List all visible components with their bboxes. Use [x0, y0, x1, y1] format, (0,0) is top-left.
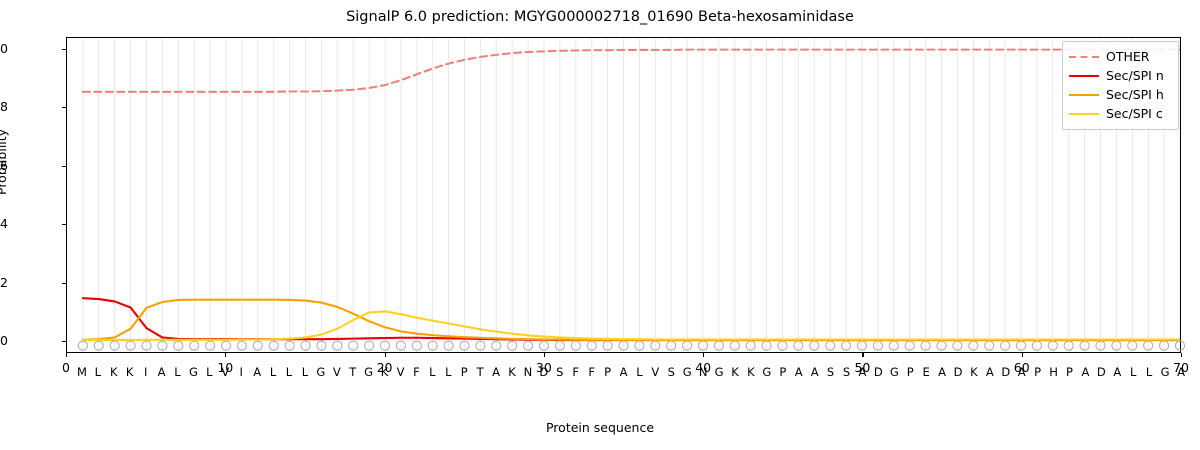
residue-marker — [1064, 341, 1073, 350]
residue-marker — [285, 341, 294, 350]
residue-letter: N — [524, 365, 533, 379]
residue-marker — [317, 341, 326, 350]
residue-letter: K — [970, 365, 978, 379]
residue-marker — [349, 341, 358, 350]
residue-marker — [1160, 341, 1169, 350]
residue-letter: D — [1097, 365, 1106, 379]
residue-letter: K — [381, 365, 389, 379]
residue-marker — [1096, 341, 1105, 350]
x-axis-label: Protein sequence — [0, 420, 1200, 435]
residue-marker — [667, 341, 676, 350]
residue-marker — [174, 341, 183, 350]
residue-marker — [953, 341, 962, 350]
legend-item[interactable]: Sec/SPI h — [1069, 85, 1172, 104]
residue-letter: S — [556, 365, 563, 379]
residue-letter: K — [126, 365, 134, 379]
residue-letter: D — [1001, 365, 1010, 379]
residue-letter: K — [508, 365, 516, 379]
legend-item-label: Sec/SPI h — [1106, 87, 1164, 102]
residue-marker — [1144, 341, 1153, 350]
residue-letter: P — [779, 365, 786, 379]
residue-letter: S — [827, 365, 834, 379]
x-tick-label: 0 — [62, 360, 70, 375]
residue-letter: G — [683, 365, 692, 379]
residue-marker — [396, 341, 405, 350]
residue-marker — [1175, 341, 1184, 350]
residue-marker — [78, 341, 87, 350]
residue-marker — [603, 341, 612, 350]
residue-marker — [142, 341, 151, 350]
residue-letter: L — [270, 365, 276, 379]
residue-letter: L — [174, 365, 180, 379]
residue-letter: E — [923, 365, 930, 379]
residue-letter: A — [811, 365, 819, 379]
residue-marker — [555, 341, 564, 350]
residue-letter: A — [1081, 365, 1089, 379]
y-tick-label: 0.4 — [0, 216, 8, 231]
residue-letter: H — [1049, 365, 1058, 379]
y-tick-label: 1.0 — [0, 41, 8, 56]
residue-letter: G — [1161, 365, 1170, 379]
residue-marker — [778, 341, 787, 350]
residue-marker — [810, 341, 819, 350]
residue-marker — [476, 341, 485, 350]
y-tick-label: 0.0 — [0, 333, 8, 348]
y-tick-label: 0.8 — [0, 99, 8, 114]
residue-letter: M — [77, 365, 87, 379]
residue-letter: F — [413, 365, 420, 379]
residue-marker — [524, 341, 533, 350]
residue-marker — [158, 341, 167, 350]
legend-item-label: OTHER — [1106, 49, 1149, 64]
residue-marker — [539, 341, 548, 350]
residue-marker — [889, 341, 898, 350]
residue-marker — [460, 341, 469, 350]
residue-marker — [1001, 341, 1010, 350]
residue-marker — [842, 341, 851, 350]
legend-color-swatch — [1069, 70, 1099, 82]
residue-letter: A — [492, 365, 500, 379]
residue-letter: V — [333, 365, 341, 379]
residue-marker — [94, 341, 103, 350]
residue-letter: G — [189, 365, 198, 379]
residue-marker — [698, 341, 707, 350]
residue-letter: L — [1146, 365, 1152, 379]
residue-marker — [587, 341, 596, 350]
residue-letter: G — [364, 365, 373, 379]
legend-item[interactable]: Sec/SPI c — [1069, 104, 1172, 123]
residue-marker — [985, 341, 994, 350]
residue-marker — [412, 341, 421, 350]
x-tick-mark — [703, 353, 704, 357]
residue-letter: A — [858, 365, 866, 379]
residue-marker — [794, 341, 803, 350]
x-tick-mark — [1022, 353, 1023, 357]
residue-marker — [571, 341, 580, 350]
residue-letter: P — [1034, 365, 1041, 379]
legend-item[interactable]: Sec/SPI n — [1069, 66, 1172, 85]
y-tick-label: 0.2 — [0, 275, 8, 290]
residue-marker — [269, 341, 278, 350]
residue-letter: D — [539, 365, 548, 379]
x-tick-mark — [1181, 353, 1182, 357]
residue-marker — [1048, 341, 1057, 350]
residue-marker — [301, 341, 310, 350]
legend-color-swatch — [1069, 89, 1099, 101]
residue-letter: N — [699, 365, 708, 379]
residue-markers — [67, 38, 1180, 352]
residue-letter: A — [253, 365, 261, 379]
residue-letter: P — [907, 365, 914, 379]
residue-letter: S — [668, 365, 675, 379]
residue-marker — [1112, 341, 1121, 350]
legend-item-label: Sec/SPI c — [1106, 106, 1163, 121]
legend: OTHERSec/SPI nSec/SPI hSec/SPI c — [1062, 41, 1179, 130]
residue-letter: L — [286, 365, 292, 379]
x-tick-mark — [385, 353, 386, 357]
residue-letter: A — [1177, 365, 1185, 379]
residue-letter: G — [316, 365, 325, 379]
x-tick-mark — [225, 353, 226, 357]
residue-letter: L — [302, 365, 308, 379]
y-tick-label: 0.6 — [0, 158, 8, 173]
legend-item-label: Sec/SPI n — [1106, 68, 1164, 83]
residue-letter: K — [110, 365, 118, 379]
residue-letter: I — [144, 365, 147, 379]
residue-letter: V — [221, 365, 229, 379]
residue-letter: K — [747, 365, 755, 379]
residue-marker — [635, 341, 644, 350]
residue-marker — [683, 341, 692, 350]
residue-letter: L — [206, 365, 212, 379]
residue-letter: G — [762, 365, 771, 379]
residue-marker — [730, 341, 739, 350]
residue-letter: T — [349, 365, 356, 379]
residue-marker — [619, 341, 628, 350]
residue-marker — [826, 341, 835, 350]
plot-area — [66, 37, 1181, 353]
residue-letter: L — [636, 365, 642, 379]
legend-color-swatch — [1069, 51, 1099, 63]
residue-letter: K — [731, 365, 739, 379]
residue-marker — [428, 341, 437, 350]
residue-letter: A — [1018, 365, 1026, 379]
residue-letter: A — [986, 365, 994, 379]
residue-letter: I — [240, 365, 243, 379]
residue-marker — [380, 341, 389, 350]
signalp-prediction-figure: SignalP 6.0 prediction: MGYG000002718_01… — [0, 0, 1200, 450]
residue-letter: P — [1066, 365, 1073, 379]
residue-marker — [857, 341, 866, 350]
residue-letter: T — [477, 365, 484, 379]
chart-title: SignalP 6.0 prediction: MGYG000002718_01… — [0, 9, 1200, 25]
residue-marker — [365, 341, 374, 350]
residue-marker — [1016, 341, 1025, 350]
residue-letter: G — [890, 365, 899, 379]
residue-letter: F — [572, 365, 579, 379]
residue-marker — [253, 341, 262, 350]
residue-marker — [444, 341, 453, 350]
residue-letter: A — [620, 365, 628, 379]
residue-letter: P — [604, 365, 611, 379]
residue-letter: L — [445, 365, 451, 379]
residue-marker — [651, 341, 660, 350]
residue-marker — [206, 341, 215, 350]
residue-letter: D — [874, 365, 883, 379]
residue-letter: L — [95, 365, 101, 379]
residue-marker — [746, 341, 755, 350]
residue-letter: S — [843, 365, 850, 379]
residue-letter: A — [938, 365, 946, 379]
residue-marker — [969, 341, 978, 350]
residue-marker — [508, 341, 517, 350]
residue-letter: L — [1130, 365, 1136, 379]
residue-marker — [333, 341, 342, 350]
residue-marker — [921, 341, 930, 350]
residue-marker — [126, 341, 135, 350]
residue-letter: V — [397, 365, 405, 379]
residue-marker — [905, 341, 914, 350]
residue-letter: D — [954, 365, 963, 379]
residue-marker — [190, 341, 199, 350]
residue-marker — [714, 341, 723, 350]
residue-letter: V — [651, 365, 659, 379]
residue-marker — [1080, 341, 1089, 350]
residue-marker — [237, 341, 246, 350]
residue-letter: A — [158, 365, 166, 379]
residue-marker — [492, 341, 501, 350]
legend-color-swatch — [1069, 108, 1099, 120]
residue-letter: F — [588, 365, 595, 379]
residue-marker — [1032, 341, 1041, 350]
x-tick-mark — [66, 353, 67, 357]
residue-marker — [110, 341, 119, 350]
residue-letter: L — [429, 365, 435, 379]
residue-marker — [221, 341, 230, 350]
residue-marker — [937, 341, 946, 350]
x-tick-mark — [544, 353, 545, 357]
residue-marker — [1128, 341, 1137, 350]
residue-letter: A — [1113, 365, 1121, 379]
residue-marker — [762, 341, 771, 350]
residue-marker — [873, 341, 882, 350]
residue-letter: G — [715, 365, 724, 379]
residue-letter: P — [461, 365, 468, 379]
x-tick-mark — [862, 353, 863, 357]
legend-item[interactable]: OTHER — [1069, 47, 1172, 66]
residue-letter: A — [795, 365, 803, 379]
